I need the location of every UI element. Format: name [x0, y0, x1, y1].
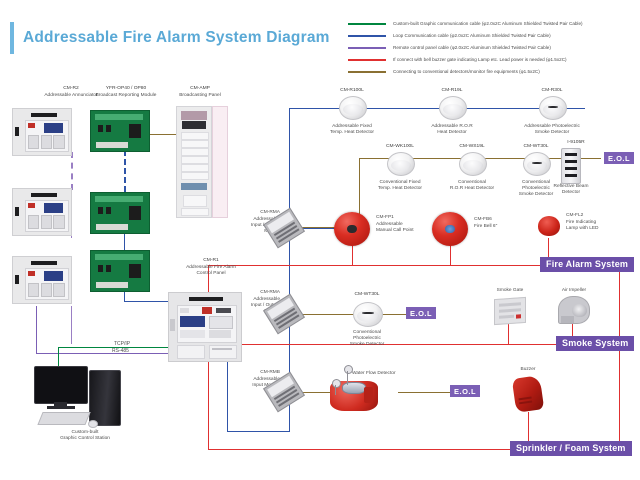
broadcast-board-2[interactable] [90, 192, 150, 234]
conventional-ror-heat-detector[interactable] [459, 152, 487, 176]
legend-label: Loop Communication cable (φ2.0x2C Alumin… [393, 33, 551, 39]
wire-purple-annunciator-2 [71, 306, 72, 344]
graphic-control-station[interactable] [34, 366, 134, 428]
water-flow-detector[interactable] [330, 381, 378, 411]
system-label-sprinkler: Sprinkler / Foam System [510, 441, 632, 456]
wire-red-bell-drop [450, 243, 451, 265]
legend-item: Remote control panel cable (φ2.0x2C Alum… [348, 42, 636, 53]
amp-broadcasting-panel[interactable] [176, 106, 212, 218]
addr-ror-heat-name: Addressable R.O.R Heat Detector [412, 124, 492, 136]
io-module-1-code: CM-RMA [234, 210, 280, 216]
fire-bell-code: CM-FB6 [474, 217, 534, 223]
manual-call-point[interactable] [334, 212, 370, 246]
legend-label: Connecting to conventional detectors/mon… [393, 69, 540, 75]
annunciator-unit-3[interactable] [12, 256, 72, 304]
conventional-photoelectric-smoke-detector[interactable] [523, 152, 551, 176]
page-title-text: Addressable Fire Alarm System Diagram [23, 29, 330, 47]
addr-fixed-heat-code: CM-R100L [312, 88, 392, 94]
addressable-ror-heat-detector[interactable] [439, 96, 467, 120]
system-label-smoke: Smoke System [556, 336, 634, 351]
smoke-gate[interactable] [494, 297, 526, 325]
legend-item: If connect with bell buzzer gate indicat… [348, 54, 636, 65]
conventional-fixed-heat-detector[interactable] [387, 152, 415, 176]
io-module-2-code: CM-RMA [234, 290, 280, 296]
addressable-fixed-heat-detector[interactable] [339, 96, 367, 120]
air-impeller-name: Air Impeller [548, 288, 600, 294]
water-flow-detector-name: Water Flow Detector [352, 371, 442, 377]
wire-dashed-board [124, 150, 126, 192]
wire-blue-panel-down [227, 355, 228, 431]
fire-lamp-code: CM-FL2 [566, 213, 636, 219]
eol-badge-smoke: E.O.L [406, 307, 436, 319]
legend-swatch-blue [348, 35, 386, 37]
diagram-canvas: Addressable Fire Alarm System Diagram Cu… [0, 0, 640, 480]
legend-swatch-purple [348, 47, 386, 49]
legend-item: Loop Communication cable (φ2.0x2C Alumin… [348, 30, 636, 41]
amp-panel-code: CM-AMP [160, 86, 240, 92]
beam-detector-code: I-9105R [546, 140, 606, 146]
annunciator-unit-2[interactable] [12, 188, 72, 236]
conv-fixed-heat-name: Conventional Fixed Temp. Heat Detector [360, 180, 440, 192]
eol-badge-sprinkler: E.O.L [450, 385, 480, 397]
wire-purple-to-panel [36, 353, 168, 354]
conv-fixed-heat-code: CM-WK100L [360, 144, 440, 150]
wire-dashed-annunciator [71, 152, 73, 190]
fire-bell[interactable] [432, 212, 468, 246]
conventional-photoelectric-smoke-detector-2[interactable] [353, 302, 383, 327]
legend-item: Connecting to conventional detectors/mon… [348, 66, 636, 77]
fire-indicating-lamp[interactable] [538, 216, 560, 236]
graphic-control-station-name: Custom-built Graphic Control Station [30, 430, 140, 442]
conv-photo-smoke-2-name: Conventional Photoelectric Smoke Detecto… [330, 330, 404, 349]
reflective-beam-detector[interactable] [561, 148, 581, 184]
wire-red-call-drop [352, 243, 353, 265]
wire-label-tcpip: TCP/IP [114, 341, 130, 347]
wire-red-gate-drop [508, 322, 509, 344]
addr-ror-heat-code: CM-R19L [412, 88, 492, 94]
wire-label-rs485: RS-485 [112, 348, 129, 354]
title-accent-bar [10, 22, 14, 54]
control-panel-name: Addressable Fire Alarm Control Panel [160, 265, 262, 277]
eol-badge-conventional-top: E.O.L [604, 152, 634, 164]
fire-lamp-name: Fire Indicating Lamp with LED [566, 220, 636, 232]
legend-swatch-red [348, 59, 386, 61]
conv-photo-smoke-2-code: CM-WT30L [330, 292, 404, 298]
wire-blue-loop-bottom [227, 431, 289, 432]
wire-blue-board-to-panel [124, 301, 172, 302]
legend-item: Custom-built Graphic communication cable… [348, 18, 636, 29]
broadcast-board-1[interactable] [90, 110, 150, 152]
air-impeller[interactable] [558, 296, 590, 324]
addr-fixed-heat-name: Addressable Fixed Temp. Heat Detector [312, 124, 392, 136]
legend-label: Remote control panel cable (φ2.0x2C Alum… [393, 45, 551, 51]
amp-panel-rail [212, 106, 228, 218]
annunciator-unit-1[interactable] [12, 108, 72, 156]
system-label-fire-alarm: Fire Alarm System [540, 257, 634, 272]
control-panel-code: CM-R1 [168, 258, 254, 264]
addr-photo-smoke-name: Addressable Photoelectric Smoke Detector [502, 124, 602, 136]
broadcast-board-3[interactable] [90, 250, 150, 292]
addr-photo-smoke-code: CM-R30L [512, 88, 592, 94]
legend-label: Custom-built Graphic communication cable… [393, 21, 583, 27]
input-module-code: CM-RMB [234, 370, 280, 376]
wire-red-right-riser [619, 265, 620, 449]
addressable-photoelectric-smoke-detector[interactable] [539, 96, 567, 120]
buzzer[interactable] [512, 375, 544, 413]
legend-swatch-green [348, 23, 386, 25]
page-title: Addressable Fire Alarm System Diagram [10, 22, 330, 54]
fire-bell-name: Fire Bell 6" [474, 224, 534, 230]
legend: Custom-built Graphic communication cable… [348, 18, 636, 78]
legend-label: If connect with bell buzzer gate indicat… [393, 57, 567, 63]
amp-panel-name: Broadcasting Panel [160, 93, 240, 99]
smoke-gate-name: Smoke Gate [482, 288, 538, 294]
wire-brown-sprinkler-row2 [398, 392, 450, 393]
legend-swatch-brown [348, 71, 386, 73]
wire-purple-drop [36, 306, 37, 354]
beam-detector-name: Reflective Beam Detector [540, 184, 602, 196]
buzzer-name: Buzzer [502, 367, 554, 373]
